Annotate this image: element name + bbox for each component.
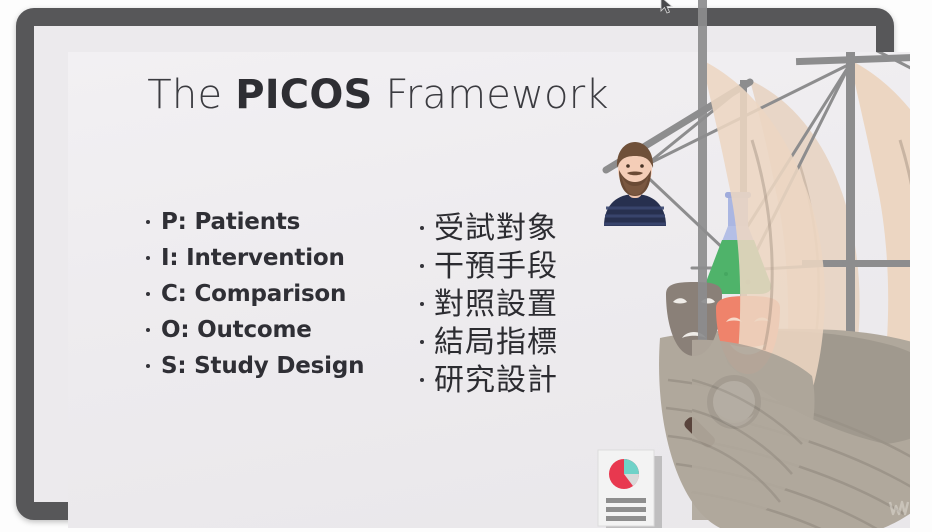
bullet-dot-icon bbox=[146, 220, 150, 224]
magnifying-glass-icon bbox=[676, 370, 768, 462]
bullet-list-english: P: Patients I: Intervention C: Compariso… bbox=[146, 204, 446, 384]
bullet-label: P: Patients bbox=[161, 204, 300, 240]
list-item: 干預手段 bbox=[420, 248, 640, 286]
bullet-label: S: Study Design bbox=[161, 348, 364, 384]
mouse-pointer-cursor bbox=[660, 0, 674, 16]
bullet-label: 受試對象 bbox=[434, 210, 558, 248]
bullet-label: 研究設計 bbox=[434, 362, 558, 400]
bullet-dot-icon bbox=[420, 302, 424, 306]
list-item: 受試對象 bbox=[420, 210, 640, 248]
page-root: The PICOS Framework P: Patients I: Inter… bbox=[0, 0, 932, 532]
list-item: 研究設計 bbox=[420, 362, 640, 400]
title-prefix: The bbox=[147, 72, 235, 118]
list-item: P: Patients bbox=[146, 204, 446, 240]
list-item: 對照設置 bbox=[420, 286, 640, 324]
monitor-bezel: The PICOS Framework P: Patients I: Inter… bbox=[16, 8, 894, 520]
bullet-label: C: Comparison bbox=[161, 276, 346, 312]
erlenmeyer-flask-icon bbox=[696, 190, 780, 298]
bullet-dot-icon bbox=[146, 364, 150, 368]
bullet-label: 結局指標 bbox=[434, 324, 558, 362]
list-item: C: Comparison bbox=[146, 276, 446, 312]
title-suffix: Framework bbox=[373, 72, 609, 118]
watermark-logo bbox=[888, 498, 910, 518]
bullet-dot-icon bbox=[420, 340, 424, 344]
bullet-label: I: Intervention bbox=[161, 240, 345, 276]
bullet-dot-icon bbox=[420, 264, 424, 268]
bullet-label: O: Outcome bbox=[161, 312, 312, 348]
bullet-label: 對照設置 bbox=[434, 286, 558, 324]
bullet-dot-icon bbox=[146, 256, 150, 260]
list-item: S: Study Design bbox=[146, 348, 446, 384]
bullet-dot-icon bbox=[146, 328, 150, 332]
theatre-masks-icon bbox=[660, 280, 792, 392]
bullet-dot-icon bbox=[420, 378, 424, 382]
bullet-label: 干預手段 bbox=[434, 248, 558, 286]
bullet-dot-icon bbox=[146, 292, 150, 296]
list-item: O: Outcome bbox=[146, 312, 446, 348]
sailing-ship-illustration bbox=[600, 52, 910, 528]
slide-title: The PICOS Framework bbox=[68, 72, 688, 118]
bullet-dot-icon bbox=[420, 226, 424, 230]
presentation-slide: The PICOS Framework P: Patients I: Inter… bbox=[68, 52, 910, 528]
report-with-pie-chart-icon bbox=[592, 446, 676, 528]
list-item: 結局指標 bbox=[420, 324, 640, 362]
bullet-list-chinese: 受試對象 干預手段 對照設置 結局指標 研究設計 bbox=[420, 210, 640, 400]
title-keyword: PICOS bbox=[235, 72, 372, 118]
list-item: I: Intervention bbox=[146, 240, 446, 276]
